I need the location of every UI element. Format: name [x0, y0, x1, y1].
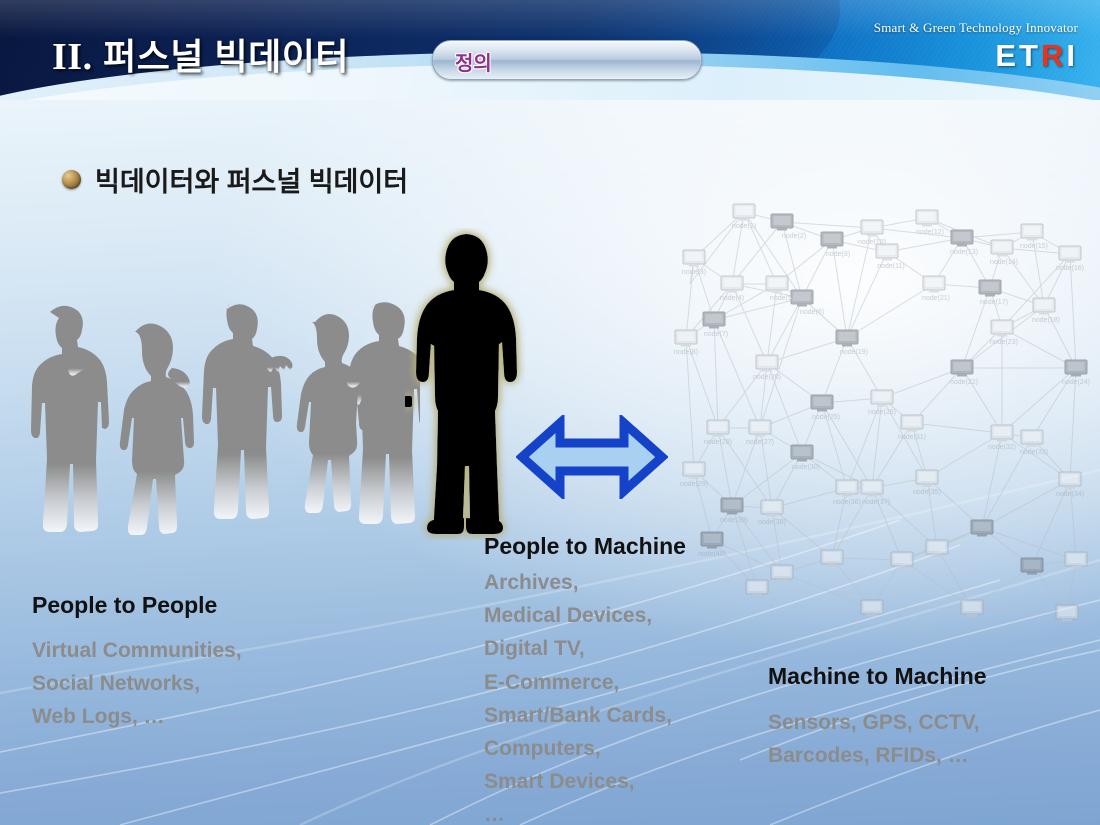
svg-text:node(33): node(33) — [1020, 449, 1048, 456]
svg-text:node(2): node(2) — [782, 233, 806, 240]
svg-text:node(21): node(21) — [922, 295, 950, 302]
svg-text:node(3): node(3) — [682, 269, 706, 276]
cluster-item: Smart Devices, — [484, 765, 672, 798]
svg-text:node(34): node(34) — [1056, 491, 1084, 498]
cluster-title-people-to-people: People to People — [32, 592, 217, 619]
svg-text:node(36): node(36) — [833, 499, 861, 506]
brand-tagline: Smart & Green Technology Innovator — [874, 20, 1078, 36]
svg-text:node(37): node(37) — [862, 499, 890, 506]
svg-text:node(19): node(19) — [840, 349, 868, 356]
svg-text:node(4): node(4) — [720, 295, 744, 302]
svg-text:node(11): node(11) — [877, 263, 905, 270]
logo-text-tail: I — [1066, 38, 1078, 73]
section-heading: 빅데이터와 퍼스널 빅데이터 — [62, 160, 408, 199]
svg-text:node(39): node(39) — [720, 517, 748, 524]
title-text: 퍼스널 빅데이터 — [103, 36, 349, 77]
svg-text:node(26): node(26) — [868, 409, 896, 416]
network-topology-diagram: node(1)node(2) node(3)node(4) node(5)nod… — [672, 188, 1100, 658]
svg-text:node(31): node(31) — [898, 434, 926, 441]
svg-text:node(23): node(23) — [990, 339, 1018, 346]
slide-header: II. 퍼스널 빅데이터 정의 Smart & Green Technology… — [0, 0, 1100, 100]
svg-text:node(24): node(24) — [1062, 379, 1090, 386]
cluster-items-machine-to-machine: Sensors, GPS, CCTV, Barcodes, RFIDs, … — [768, 706, 980, 772]
section-heading-label: 빅데이터와 퍼스널 빅데이터 — [95, 160, 408, 199]
svg-text:node(5): node(5) — [770, 295, 794, 302]
svg-text:node(6): node(6) — [800, 309, 824, 316]
svg-text:node(7): node(7) — [704, 331, 728, 338]
svg-text:node(27): node(27) — [746, 439, 774, 446]
svg-text:node(29): node(29) — [680, 481, 708, 488]
cluster-title-machine-to-machine: Machine to Machine — [768, 663, 987, 690]
etri-logo: ETRI — [995, 38, 1078, 74]
svg-text:node(16): node(16) — [1056, 265, 1084, 272]
svg-text:node(18): node(18) — [1032, 317, 1060, 324]
cluster-item: Medical Devices, — [484, 599, 672, 632]
svg-text:node(17): node(17) — [980, 299, 1008, 306]
cluster-item: Virtual Communities, — [32, 634, 242, 667]
logo-text-main: ET — [995, 38, 1041, 73]
svg-text:node(10): node(10) — [858, 239, 886, 246]
cluster-item: Digital TV, — [484, 632, 672, 665]
double-headed-arrow-icon — [516, 415, 668, 499]
svg-text:node(25): node(25) — [812, 414, 840, 421]
black-person-silhouette — [405, 228, 525, 540]
cluster-item: … — [484, 798, 672, 825]
page-title: II. 퍼스널 빅데이터 — [52, 28, 349, 80]
svg-text:node(1): node(1) — [732, 223, 756, 230]
svg-text:node(32): node(32) — [988, 444, 1016, 451]
svg-text:node(38): node(38) — [758, 519, 786, 526]
people-silhouettes-group — [20, 300, 420, 600]
svg-text:node(30): node(30) — [792, 464, 820, 471]
cluster-item: Smart/Bank Cards, — [484, 699, 672, 732]
svg-text:node(8): node(8) — [674, 349, 698, 356]
cluster-item: E-Commerce, — [484, 666, 672, 699]
status-badge: 정의 — [432, 40, 702, 80]
svg-text:node(9): node(9) — [826, 251, 850, 258]
cluster-item: Social Networks, — [32, 667, 242, 700]
cluster-title-people-to-machine: People to Machine — [484, 533, 686, 560]
cluster-item: Computers, — [484, 732, 672, 765]
silhouette-person-1 — [31, 306, 109, 532]
svg-text:node(35): node(35) — [913, 489, 941, 496]
logo-text-accent: R — [1041, 38, 1066, 73]
cluster-item: Barcodes, RFIDs, … — [768, 739, 980, 772]
svg-text:node(28): node(28) — [704, 439, 732, 446]
cluster-item: Sensors, GPS, CCTV, — [768, 706, 980, 739]
silhouette-person-3 — [202, 303, 282, 519]
slide-canvas: II. 퍼스널 빅데이터 정의 Smart & Green Technology… — [0, 0, 1100, 825]
silhouette-person-2 — [120, 323, 194, 535]
cluster-item: Archives, — [484, 566, 672, 599]
svg-text:node(14): node(14) — [990, 259, 1018, 266]
svg-text:node(12): node(12) — [916, 229, 944, 236]
cluster-item: Web Logs, … — [32, 700, 242, 733]
cluster-items-people-to-people: Virtual Communities, Social Networks, We… — [32, 634, 242, 734]
cluster-items-people-to-machine: Archives, Medical Devices, Digital TV, E… — [484, 566, 672, 825]
status-badge-label: 정의 — [455, 47, 492, 76]
sphere-bullet-icon — [62, 170, 81, 189]
svg-text:node(20): node(20) — [753, 374, 781, 381]
svg-text:node(15): node(15) — [1020, 243, 1048, 250]
svg-text:node(40): node(40) — [698, 551, 726, 558]
title-numeral: II. — [52, 36, 93, 78]
svg-text:node(13): node(13) — [950, 249, 978, 256]
svg-text:node(22): node(22) — [950, 379, 978, 386]
